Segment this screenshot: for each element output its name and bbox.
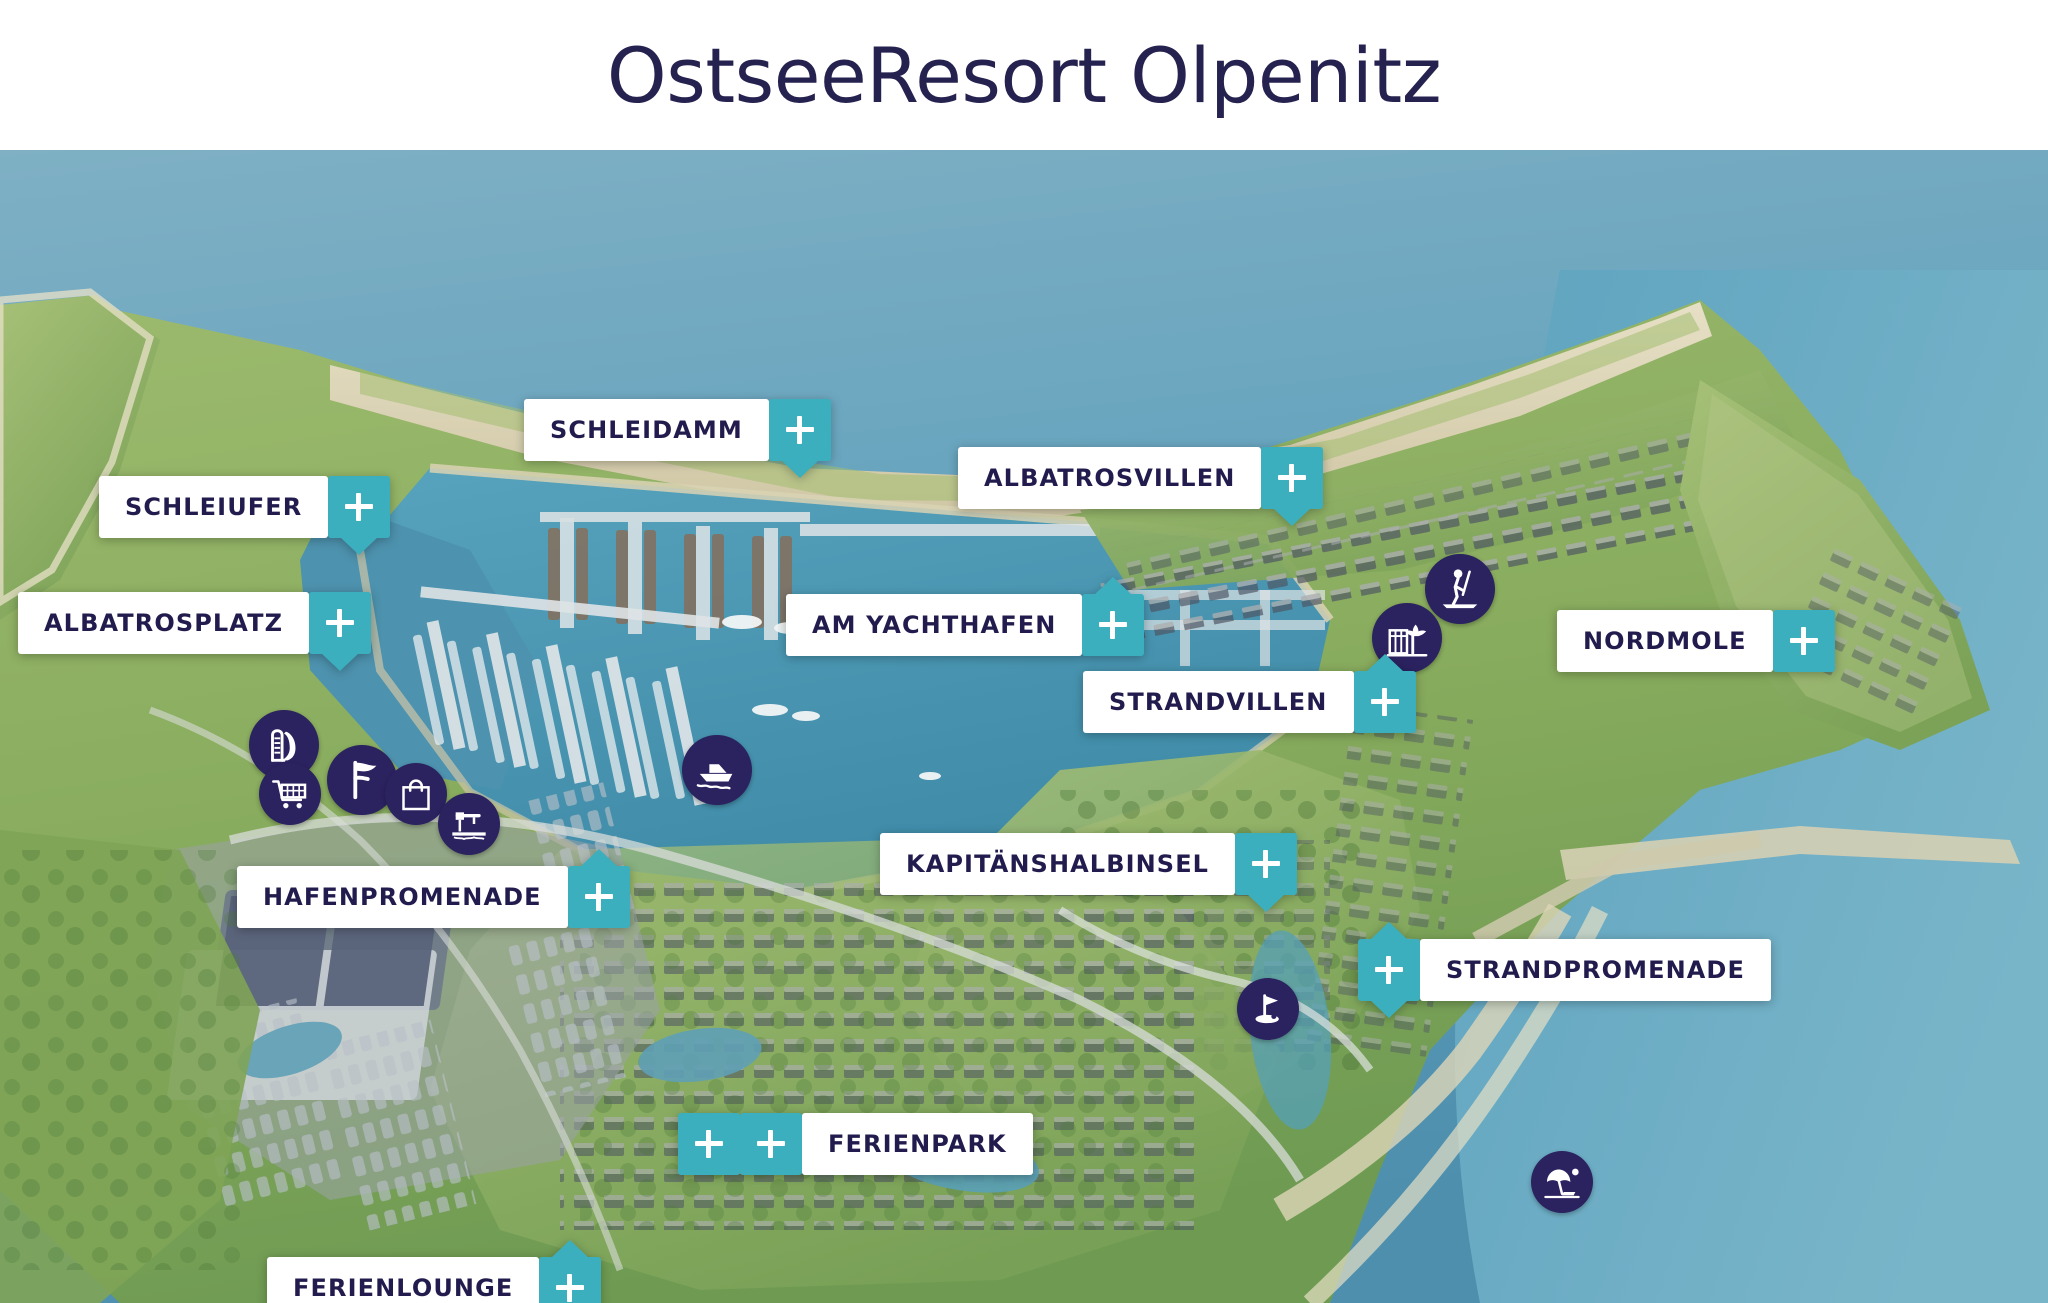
hotspot-kapitaenshalbinsel[interactable]: KAPITÄNSHALBINSEL xyxy=(880,833,1297,895)
plus-icon xyxy=(695,1130,723,1158)
hotspot-label-hafenpromenade: HAFENPROMENADE xyxy=(237,866,568,928)
hotspot-label-albatrosplatz: ALBATROSPLATZ xyxy=(18,592,309,654)
motorboat-icon xyxy=(694,747,740,793)
expand-button-kapitaenshalbinsel-right[interactable] xyxy=(1235,833,1297,895)
plus-icon xyxy=(1790,627,1818,655)
plus-icon xyxy=(1375,956,1403,984)
expand-button-ferienlounge-right[interactable] xyxy=(539,1257,601,1303)
shopping-cart-icon xyxy=(270,774,310,814)
plus-icon xyxy=(786,416,814,444)
hotspot-label-strandvillen: STRANDVILLEN xyxy=(1083,671,1354,733)
plus-icon xyxy=(556,1274,584,1302)
expand-button-schleidamm-right[interactable] xyxy=(769,399,831,461)
page-root: OstseeResort Olpenitz xyxy=(0,0,2048,1303)
hotspot-albatrosvillen[interactable]: ALBATROSVILLEN xyxy=(958,447,1323,509)
hotspot-label-nordmole: NORDMOLE xyxy=(1557,610,1773,672)
hotspot-label-am-yachthafen: AM YACHTHAFEN xyxy=(786,594,1082,656)
hotspot-label-albatrosvillen: ALBATROSVILLEN xyxy=(958,447,1261,509)
hotspot-label-ferienlounge: FERIENLOUNGE xyxy=(267,1257,539,1303)
paddleboard-icon xyxy=(1437,566,1483,612)
hotspot-ferienlounge[interactable]: FERIENLOUNGE xyxy=(267,1257,601,1303)
hotspot-ferienpark[interactable]: FERIENPARK xyxy=(678,1113,1033,1175)
plus-icon xyxy=(757,1130,785,1158)
expand-button-strandvillen-right[interactable] xyxy=(1354,671,1416,733)
plus-icon xyxy=(345,493,373,521)
plus-icon xyxy=(326,609,354,637)
hotspot-label-schleidamm: SCHLEIDAMM xyxy=(524,399,769,461)
expand-button-nordmole-right[interactable] xyxy=(1773,610,1835,672)
hotspot-label-kapitaenshalbinsel: KAPITÄNSHALBINSEL xyxy=(880,833,1235,895)
hotspot-nordmole[interactable]: NORDMOLE xyxy=(1557,610,1835,672)
expand-button-schleiufer-right[interactable] xyxy=(328,476,390,538)
poi-minigolf[interactable] xyxy=(1237,978,1299,1040)
hotspot-strandpromenade[interactable]: STRANDPROMENADE xyxy=(1358,939,1771,1001)
water-slide-icon xyxy=(261,722,307,768)
hotspot-am-yachthafen[interactable]: AM YACHTHAFEN xyxy=(786,594,1144,656)
hotspot-label-strandpromenade: STRANDPROMENADE xyxy=(1420,939,1771,1001)
expand-button-ferienpark-left[interactable] xyxy=(678,1113,740,1175)
beach-umbrella-icon xyxy=(1542,1162,1582,1202)
hotspot-hafenpromenade[interactable]: HAFENPROMENADE xyxy=(237,866,630,928)
hotspot-schleiufer[interactable]: SCHLEIUFER xyxy=(99,476,390,538)
expand-button-albatrosplatz-right[interactable] xyxy=(309,592,371,654)
poi-yacht-charter[interactable] xyxy=(682,735,752,805)
shopping-bag-icon xyxy=(396,774,436,814)
plus-icon xyxy=(1278,464,1306,492)
golf-flag-icon xyxy=(1248,989,1288,1029)
plus-icon xyxy=(1252,850,1280,878)
expand-button-strandpromenade-left[interactable] xyxy=(1358,939,1420,1001)
hotspot-strandvillen[interactable]: STRANDVILLEN xyxy=(1083,671,1416,733)
expand-button-albatrosvillen-right[interactable] xyxy=(1261,447,1323,509)
hotspot-label-ferienpark: FERIENPARK xyxy=(802,1113,1033,1175)
expand-button-am-yachthafen-right[interactable] xyxy=(1082,594,1144,656)
page-title: OstseeResort Olpenitz xyxy=(607,31,1441,120)
expand-button-ferienpark-right[interactable] xyxy=(740,1113,802,1175)
poi-beach[interactable] xyxy=(1531,1151,1593,1213)
hotspot-albatrosplatz[interactable]: ALBATROSPLATZ xyxy=(18,592,371,654)
poi-sup-station[interactable] xyxy=(1425,554,1495,624)
expand-button-hafenpromenade-right[interactable] xyxy=(568,866,630,928)
harbour-crane-icon xyxy=(449,804,489,844)
flag-f-icon xyxy=(339,757,385,803)
page-header: OstseeResort Olpenitz xyxy=(0,0,2048,150)
poi-shopping[interactable] xyxy=(385,763,447,825)
plus-icon xyxy=(585,883,613,911)
resort-map[interactable]: SCHLEIDAMMSCHLEIUFERALBATROSVILLENALBATR… xyxy=(0,150,2048,1303)
poi-supermarket[interactable] xyxy=(259,763,321,825)
plus-icon xyxy=(1099,611,1127,639)
hotspot-label-schleiufer: SCHLEIUFER xyxy=(99,476,328,538)
hotspot-schleidamm[interactable]: SCHLEIDAMM xyxy=(524,399,831,461)
plus-icon xyxy=(1371,688,1399,716)
poi-harbour-crane[interactable] xyxy=(438,793,500,855)
